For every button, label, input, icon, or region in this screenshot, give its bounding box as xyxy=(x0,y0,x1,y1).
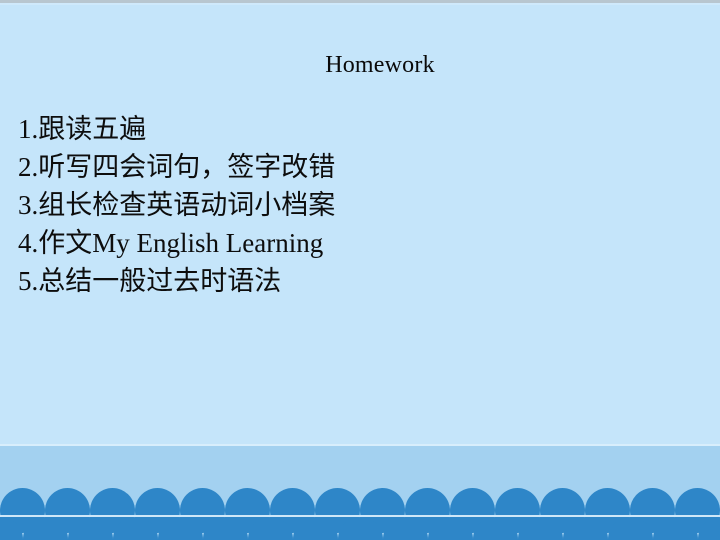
scallop-circle xyxy=(203,517,248,540)
list-item: 4.作文My English Learning xyxy=(18,224,618,262)
scallop-circle xyxy=(68,517,113,540)
decorative-bottom-border xyxy=(0,444,720,540)
list-item: 3.组长检查英语动词小档案 xyxy=(18,186,618,224)
scallop-circle xyxy=(383,517,428,540)
slide-canvas: Homework 1.跟读五遍 2.听写四会词句，签字改错 3.组长检查英语动词… xyxy=(0,0,720,540)
list-item: 5.总结一般过去时语法 xyxy=(18,262,618,300)
scallop-circle xyxy=(338,517,383,540)
scallop-circle xyxy=(608,517,653,540)
page-title: Homework xyxy=(0,50,720,80)
scallop-circle xyxy=(158,517,203,540)
scallop-row-front xyxy=(0,517,720,540)
scallop-circle xyxy=(0,517,23,540)
scallop-circle xyxy=(248,517,293,540)
scallop-circle xyxy=(698,517,720,540)
scallop-circle xyxy=(563,517,608,540)
homework-list: 1.跟读五遍 2.听写四会词句，签字改错 3.组长检查英语动词小档案 4.作文M… xyxy=(18,110,618,300)
scallop-circle xyxy=(113,517,158,540)
scallop-circle xyxy=(23,517,68,540)
scallop-circle xyxy=(293,517,338,540)
scallop-circle xyxy=(428,517,473,540)
slide-top-border-inner xyxy=(0,3,720,5)
list-item: 1.跟读五遍 xyxy=(18,110,618,148)
scallop-circle xyxy=(473,517,518,540)
scallop-circle xyxy=(518,517,563,540)
scallop-circle xyxy=(653,517,698,540)
list-item: 2.听写四会词句，签字改错 xyxy=(18,148,618,186)
